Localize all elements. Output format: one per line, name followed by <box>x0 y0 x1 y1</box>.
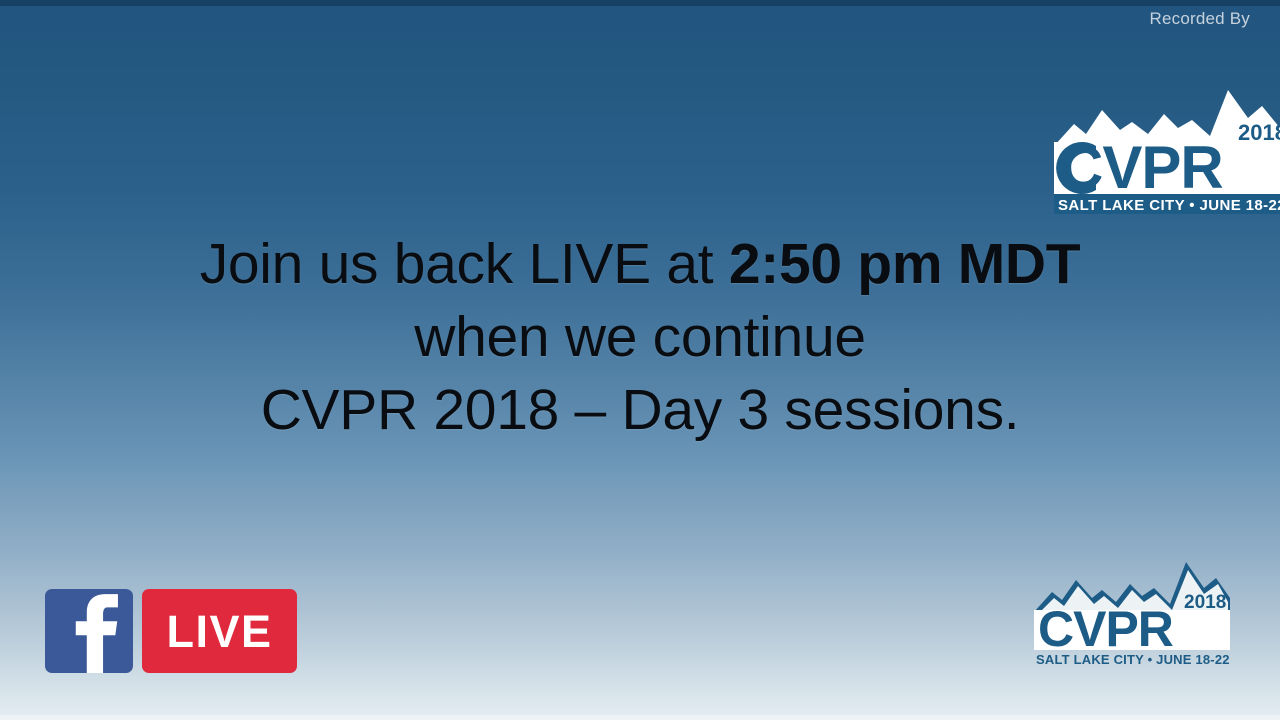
message-return-time: 2:50 pm MDT <box>729 232 1080 296</box>
cvpr-mountain-logo-icon: CVPR 2018 SALT LAKE CITY • JUNE 18-22 <box>1052 84 1280 216</box>
cvpr-tagline-top: SALT LAKE CITY • JUNE 18-22 <box>1058 197 1280 214</box>
cvpr-wordmark-top: CVPR <box>1060 134 1223 201</box>
bottom-edge-band <box>0 715 1280 720</box>
message-line-2: when we continue <box>0 301 1280 374</box>
message-line-1-prefix: Join us back LIVE at <box>200 232 729 296</box>
facebook-live-badge[interactable]: LIVE <box>45 589 297 673</box>
slide-canvas: Recorded By CVPR 2018 SALT LAKE CITY • J… <box>0 0 1280 720</box>
facebook-f-icon <box>54 589 138 673</box>
live-chip[interactable]: LIVE <box>142 589 297 673</box>
facebook-icon-tile[interactable] <box>45 589 133 673</box>
live-label: LIVE <box>166 609 272 654</box>
message-line-3: CVPR 2018 – Day 3 sessions. <box>0 374 1280 447</box>
cvpr-year-bottom: 2018 <box>1184 592 1226 613</box>
message-line-1: Join us back LIVE at 2:50 pm MDT <box>0 228 1280 301</box>
cvpr-mountain-logo-icon-bottom: CVPR 2018 SALT LAKE CITY • JUNE 18-22 <box>1032 558 1232 670</box>
cvpr-wordmark-bottom: CVPR <box>1038 601 1174 657</box>
recorded-by-label: Recorded By <box>1150 9 1250 29</box>
interstitial-message: Join us back LIVE at 2:50 pm MDT when we… <box>0 228 1280 447</box>
cvpr-logo-top: CVPR 2018 SALT LAKE CITY • JUNE 18-22 <box>1052 84 1280 216</box>
cvpr-tagline-bottom: SALT LAKE CITY • JUNE 18-22 <box>1036 652 1230 667</box>
top-edge-band <box>0 0 1280 6</box>
cvpr-year-top: 2018 <box>1238 120 1280 145</box>
cvpr-logo-bottom: CVPR 2018 SALT LAKE CITY • JUNE 18-22 <box>1032 558 1232 670</box>
